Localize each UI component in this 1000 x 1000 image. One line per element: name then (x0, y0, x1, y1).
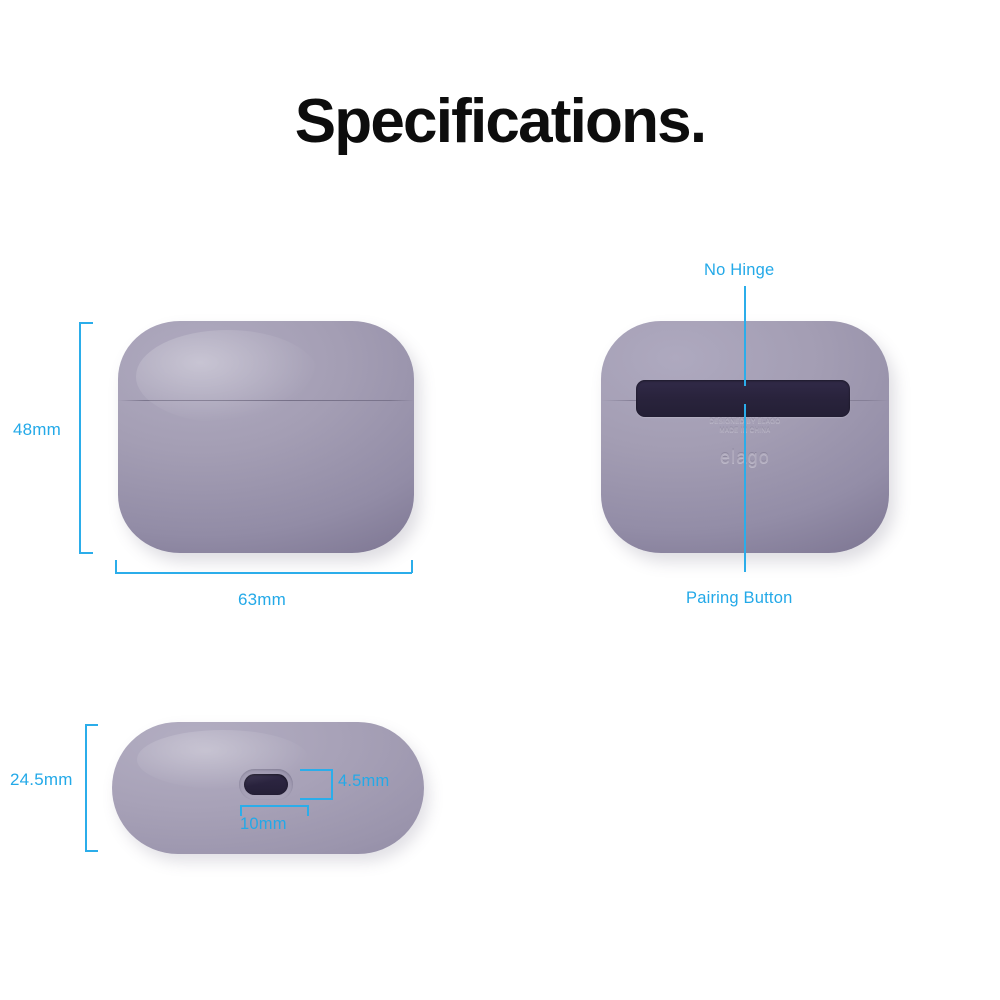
page-title: Specifications. (0, 86, 1000, 157)
bottom-depth-bracket-line (85, 724, 87, 852)
port-height-label: 4.5mm (338, 772, 389, 791)
callout-no-hinge-label: No Hinge (704, 261, 774, 280)
specifications-page: Specifications. 48mm 63mm DESIGNED BY EL… (0, 0, 1000, 1000)
port-width-label: 10mm (240, 815, 287, 834)
case-back-slot (636, 380, 850, 417)
bottom-depth-bracket-tick-bottom (85, 850, 98, 852)
port-width-bracket-tick-right (307, 805, 309, 816)
charging-port-recess (239, 769, 293, 800)
front-width-bracket-tick-right (411, 560, 413, 573)
front-height-bracket-tick-top (79, 322, 93, 324)
port-height-bracket-tick-bottom (300, 798, 332, 800)
bottom-depth-label: 24.5mm (10, 770, 73, 790)
front-height-bracket-tick-bottom (79, 552, 93, 554)
charging-port-cutout (244, 774, 288, 795)
airpods-case-front-view (118, 321, 414, 553)
port-height-bracket-tick-top (300, 769, 332, 771)
front-height-label: 48mm (13, 420, 61, 440)
front-height-bracket-line (79, 322, 81, 554)
front-width-bracket-line (115, 572, 412, 574)
port-height-bracket-line (331, 769, 333, 800)
port-width-bracket-line (240, 805, 308, 807)
callout-pairing-button-label: Pairing Button (686, 589, 792, 608)
callout-pairing-button-leader-line (744, 404, 746, 572)
callout-no-hinge-leader-line (744, 286, 746, 386)
front-width-bracket-tick-left (115, 560, 117, 573)
case-lid-seam-line (118, 400, 414, 401)
front-width-label: 63mm (238, 590, 286, 610)
bottom-depth-bracket-tick-top (85, 724, 98, 726)
